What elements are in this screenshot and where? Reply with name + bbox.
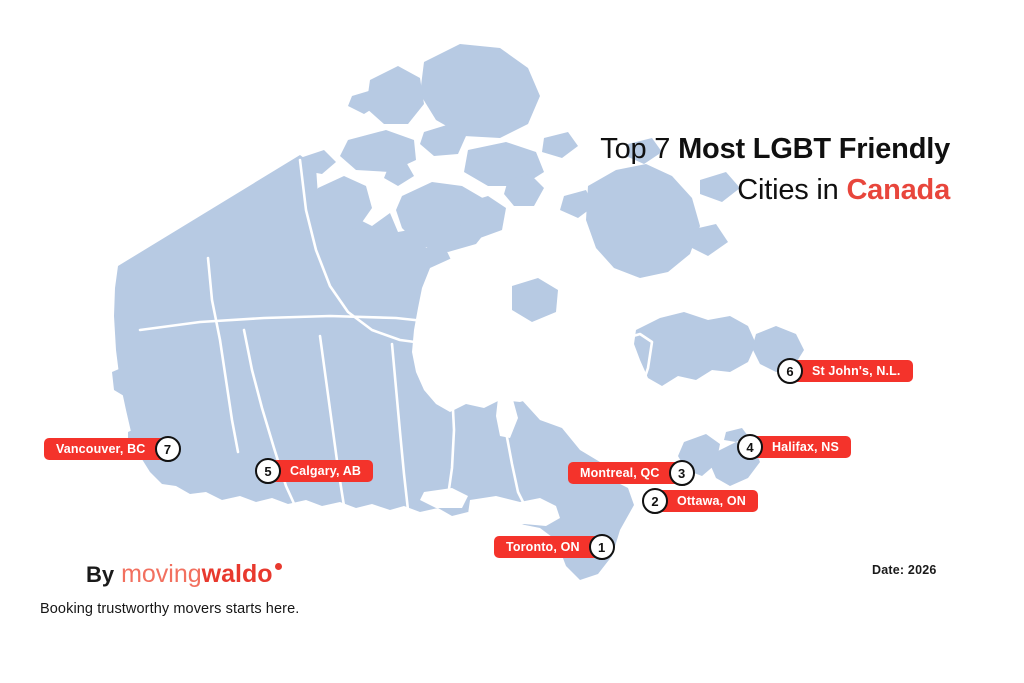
brand-tagline: Booking trustworthy movers starts here. (40, 601, 299, 617)
city-marker-ottawa-on[interactable]: 2Ottawa, ON (642, 488, 758, 514)
rank-badge: 2 (642, 488, 668, 514)
city-marker-calgary-ab[interactable]: 5Calgary, AB (255, 458, 373, 484)
rank-badge: 3 (669, 460, 695, 486)
hudson-bay (412, 258, 570, 412)
rank-badge: 7 (155, 436, 181, 462)
brand-waldo-text: waldo (202, 560, 273, 588)
title-part-top7: Top 7 (600, 133, 678, 165)
city-label-pill: Calgary, AB (270, 460, 373, 482)
title-part-cities-in: Cities in (737, 174, 846, 206)
infographic-canvas: Top 7 Most LGBT Friendly Cities in Canad… (0, 0, 1024, 683)
city-marker-toronto-on[interactable]: Toronto, ON1 (494, 534, 615, 560)
city-marker-montreal-qc[interactable]: Montreal, QC3 (568, 460, 695, 486)
rank-badge: 6 (777, 358, 803, 384)
rank-badge: 1 (589, 534, 615, 560)
city-label-pill: St John's, N.L. (792, 360, 913, 382)
brand-by-text: By (86, 562, 114, 587)
brand-moving-text: moving (121, 560, 202, 588)
city-marker-halifax-ns[interactable]: 4Halifax, NS (737, 434, 851, 460)
city-label-pill: Ottawa, ON (657, 490, 758, 512)
city-label-pill: Halifax, NS (752, 436, 851, 458)
brand-dot-icon (275, 563, 282, 570)
city-marker-vancouver-bc[interactable]: Vancouver, BC7 (44, 436, 181, 462)
arctic-islet-a (300, 150, 336, 174)
page-title: Top 7 Most LGBT Friendly Cities in Canad… (520, 132, 950, 209)
title-line-2: Cities in Canada (520, 173, 950, 208)
city-label-pill: Toronto, ON (494, 536, 600, 558)
city-marker-st-john-s-n-l[interactable]: 6St John's, N.L. (777, 358, 913, 384)
city-label-pill: Vancouver, BC (44, 438, 166, 460)
title-part-most-lgbt-friendly: Most LGBT Friendly (678, 133, 950, 165)
rank-badge: 4 (737, 434, 763, 460)
date-label: Date: 2026 (872, 563, 937, 577)
brand-logo: By movingwaldo (86, 562, 282, 587)
title-line-1: Top 7 Most LGBT Friendly (520, 132, 950, 167)
ellesmere-island (420, 44, 540, 138)
labrador-peninsula (634, 312, 756, 386)
title-part-canada: Canada (846, 174, 950, 206)
rank-badge: 5 (255, 458, 281, 484)
city-label-pill: Montreal, QC (568, 462, 680, 484)
